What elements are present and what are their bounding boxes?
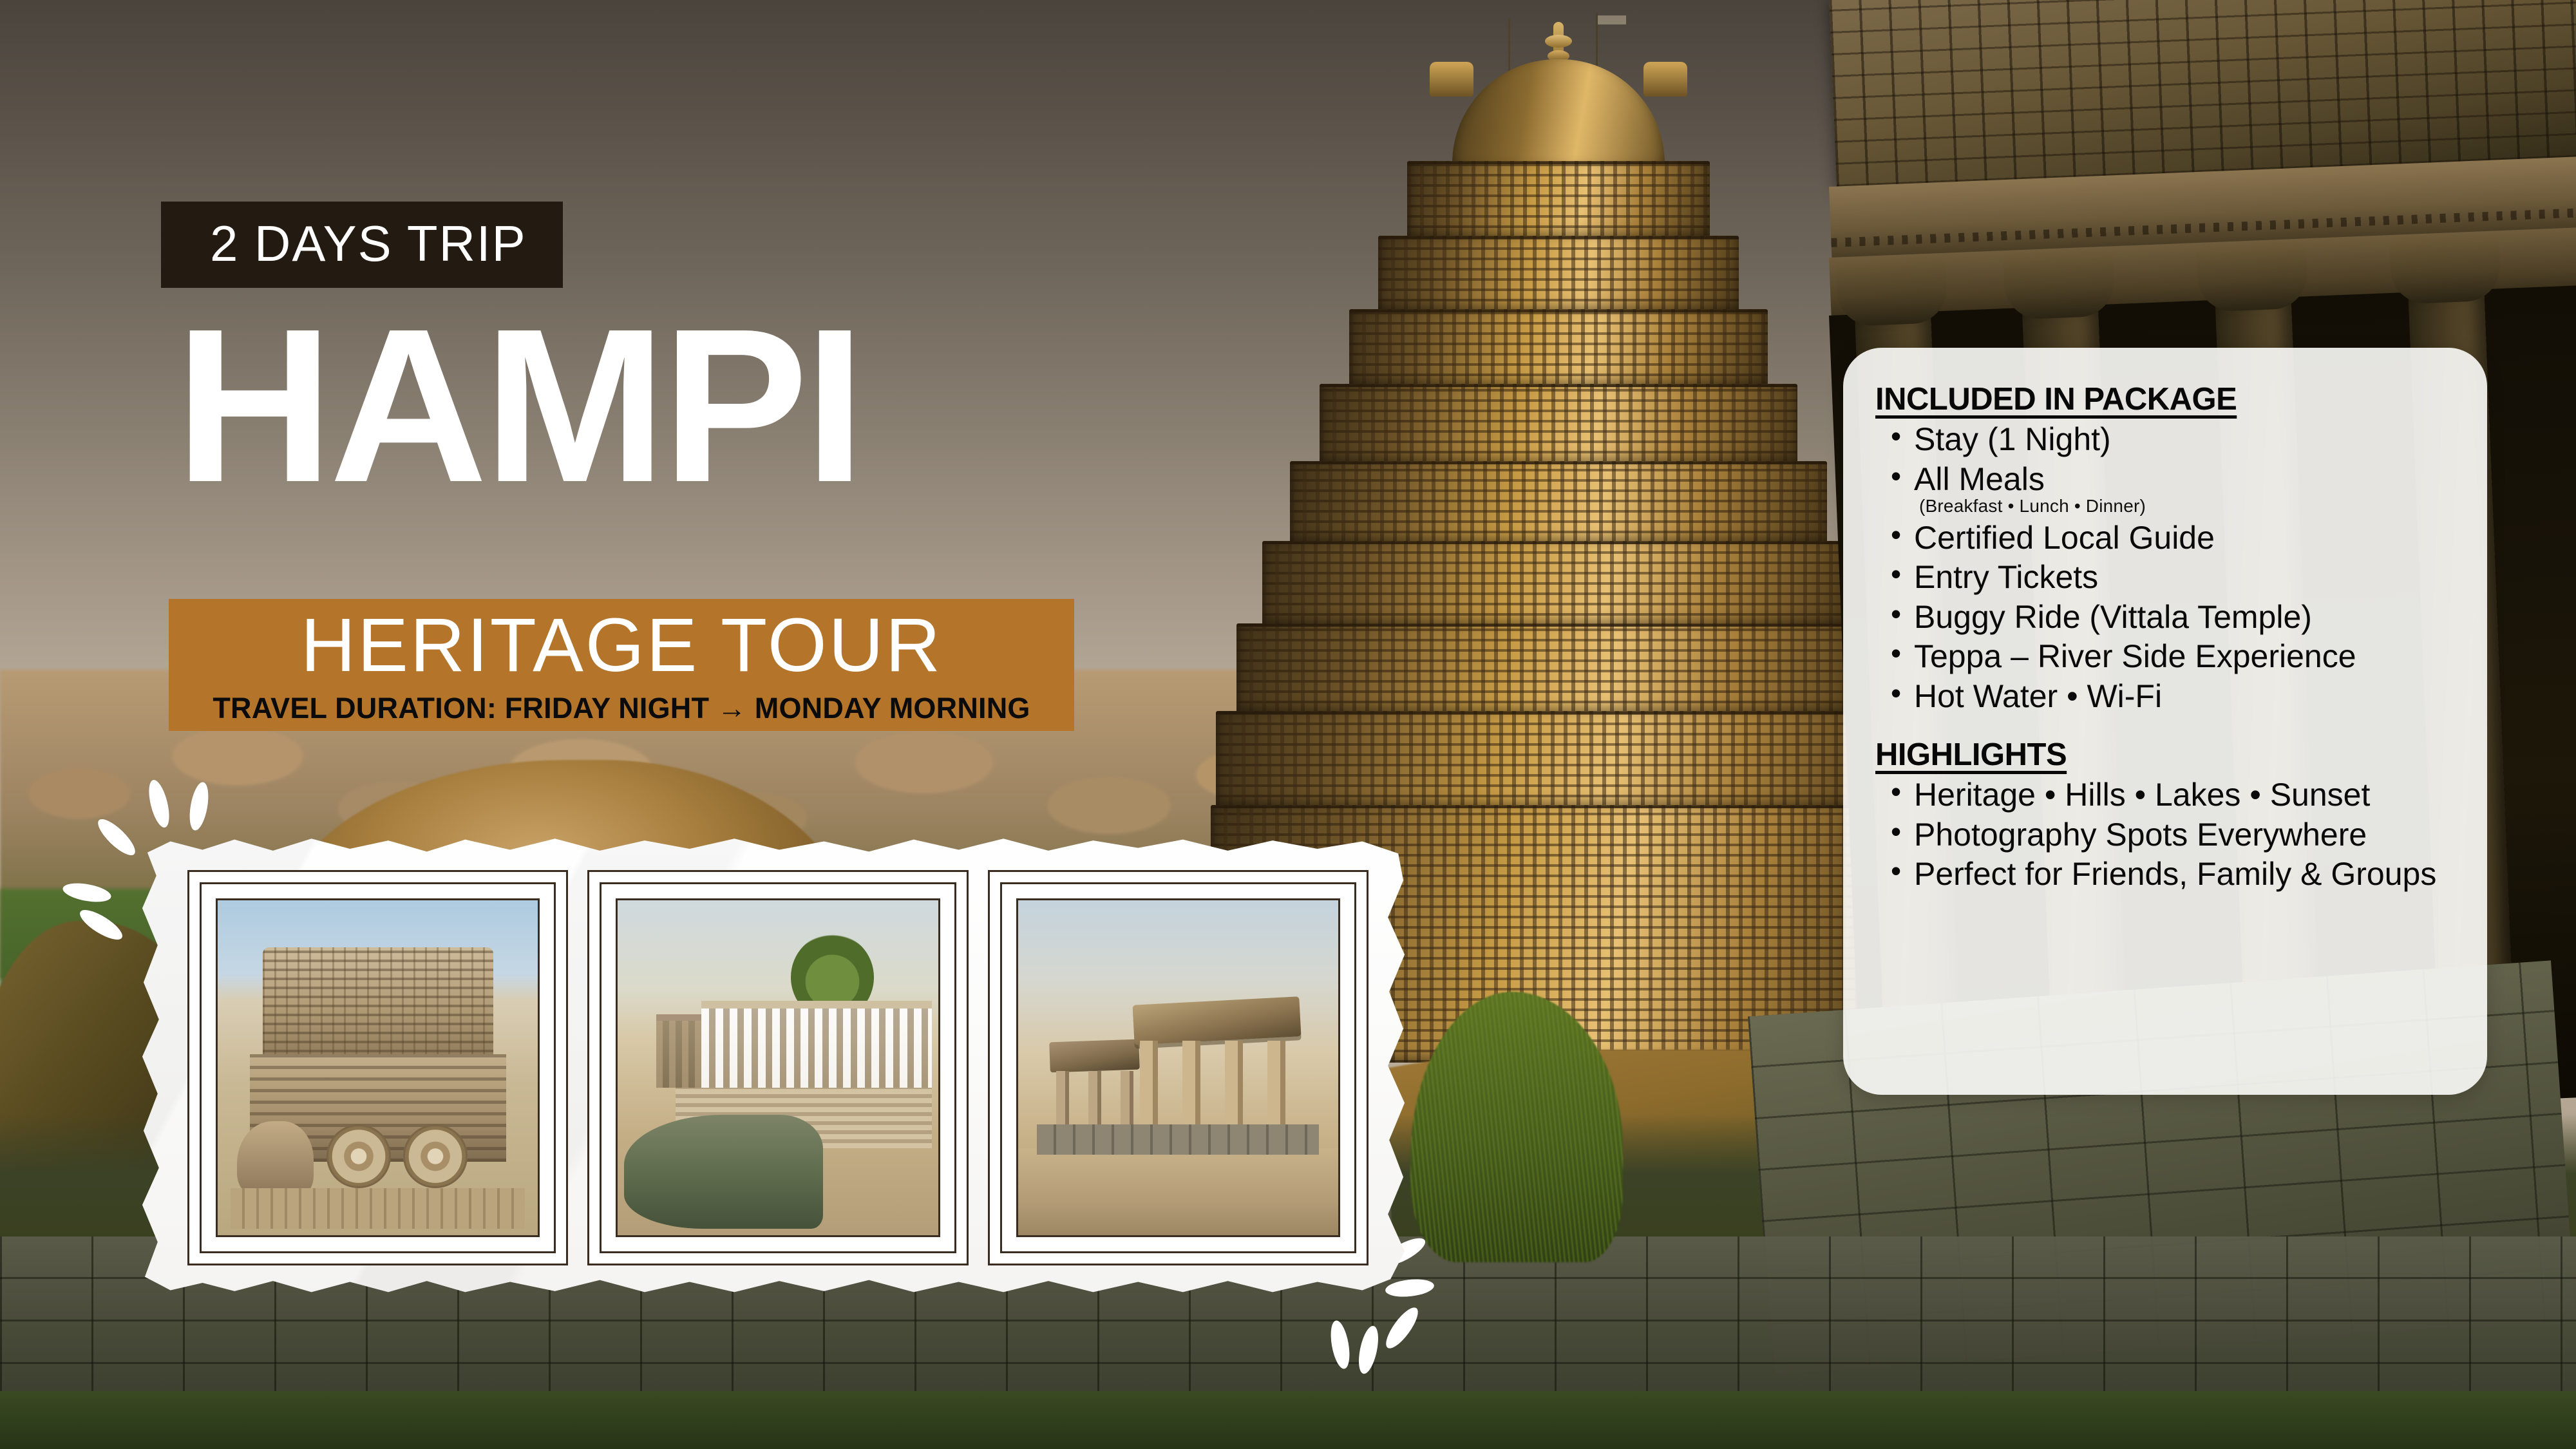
included-list: Stay (1 Night) All Meals (Breakfast • Lu… (1875, 421, 2461, 714)
included-item-note: (Breakfast • Lunch • Dinner) (1919, 496, 2461, 516)
list-item: Buggy Ride (Vittala Temple) (1875, 599, 2461, 636)
trip-duration-badge-label: 2 DAYS TRIP (210, 218, 527, 269)
grass-strip (0, 1391, 2576, 1449)
photo-frame-mat (200, 882, 556, 1253)
mandapa-roof (1829, 0, 2576, 187)
gopuram-tier (1216, 711, 1901, 808)
gopuram-tier (1262, 541, 1855, 626)
list-item: Hot Water • Wi-Fi (1875, 678, 2461, 715)
list-item: Photography Spots Everywhere (1875, 817, 2461, 853)
trip-duration-badge: 2 DAYS TRIP (161, 202, 563, 288)
sparkle-ray (187, 781, 212, 831)
sparkle-ray (76, 905, 126, 945)
list-item: Entry Tickets (1875, 559, 2461, 596)
gopuram-crest-arch (1452, 59, 1665, 175)
tour-subtitle: HERITAGE TOUR (301, 603, 942, 688)
list-item: Certified Local Guide (1875, 520, 2461, 556)
gopuram-horn-right (1643, 62, 1687, 97)
large-pavilion-roof (1132, 996, 1301, 1045)
highlights-heading: HIGHLIGHTS (1875, 737, 2067, 773)
photo-pillared-pavilions (1016, 898, 1340, 1237)
travel-duration-text: TRAVEL DURATION: FRIDAY NIGHT → MONDAY M… (213, 692, 1030, 725)
photo-pushkarani-tank (616, 898, 940, 1237)
highlight-item-label: Perfect for Friends, Family & Groups (1914, 856, 2436, 892)
sparkle-ray (145, 778, 173, 829)
list-item: Perfect for Friends, Family & Groups (1875, 856, 2461, 893)
highlights-list: Heritage • Hills • Lakes • Sunset Photog… (1875, 777, 2461, 893)
chariot-tower (263, 947, 493, 1061)
sparkle-ray (1381, 1303, 1423, 1353)
chariot-plinth (231, 1188, 526, 1228)
photo-frame[interactable] (988, 870, 1368, 1265)
included-item-label: All Meals (1914, 461, 2045, 497)
included-item-label: Hot Water • Wi-Fi (1914, 678, 2162, 714)
rock-plateau (1018, 1148, 1338, 1235)
gopuram-tier (1378, 236, 1739, 312)
poster-canvas: 2 DAYS TRIP HAMPI HERITAGE TOUR TRAVEL D… (0, 0, 2576, 1449)
photo-stone-chariot (216, 898, 540, 1237)
destination-title: HAMPI (175, 314, 862, 498)
chariot-elephant-statue (237, 1121, 314, 1195)
list-item: Teppa – River Side Experience (1875, 638, 2461, 675)
included-item-label: Buggy Ride (Vittala Temple) (1914, 599, 2312, 635)
photo-frame-mat (600, 882, 956, 1253)
gopuram-tier (1407, 161, 1710, 238)
chariot-wheel (403, 1124, 467, 1188)
gopuram-tier (1349, 309, 1768, 386)
pavilion-plinth (1037, 1124, 1319, 1155)
list-item: All Meals (Breakfast • Lunch • Dinner) (1875, 461, 2461, 516)
included-item-label: Certified Local Guide (1914, 520, 2215, 556)
photo-frame[interactable] (187, 870, 568, 1265)
included-item-label: Stay (1 Night) (1914, 421, 2111, 457)
subtitle-band: HERITAGE TOUR TRAVEL DURATION: FRIDAY NI… (169, 599, 1074, 731)
photo-frame-mat (1000, 882, 1356, 1253)
list-item: Stay (1 Night) (1875, 421, 2461, 458)
gopuram-tier (1290, 461, 1827, 544)
included-item-label: Teppa – River Side Experience (1914, 638, 2356, 674)
photo-frame[interactable] (587, 870, 968, 1265)
chariot-wheel (327, 1124, 390, 1188)
section-spacer (1875, 717, 2461, 737)
gopuram-horn-left (1430, 62, 1473, 97)
kalasha-finial (1553, 22, 1564, 64)
list-item: Heritage • Hills • Lakes • Sunset (1875, 777, 2461, 813)
tank-water (624, 1115, 822, 1229)
photo-collage (132, 834, 1414, 1298)
included-item-label: Entry Tickets (1914, 559, 2098, 595)
included-heading: INCLUDED IN PACKAGE (1875, 381, 2237, 417)
gopuram-tier (1236, 623, 1880, 714)
gopuram-tier (1320, 384, 1797, 464)
front-mandapa-pillars (701, 1001, 932, 1088)
small-pavilion-roof (1050, 1039, 1141, 1073)
highlight-item-label: Heritage • Hills • Lakes • Sunset (1914, 777, 2370, 813)
highlight-item-label: Photography Spots Everywhere (1914, 817, 2367, 853)
package-info-card: INCLUDED IN PACKAGE Stay (1 Night) All M… (1843, 348, 2487, 1095)
photo-frame-row (187, 870, 1368, 1265)
